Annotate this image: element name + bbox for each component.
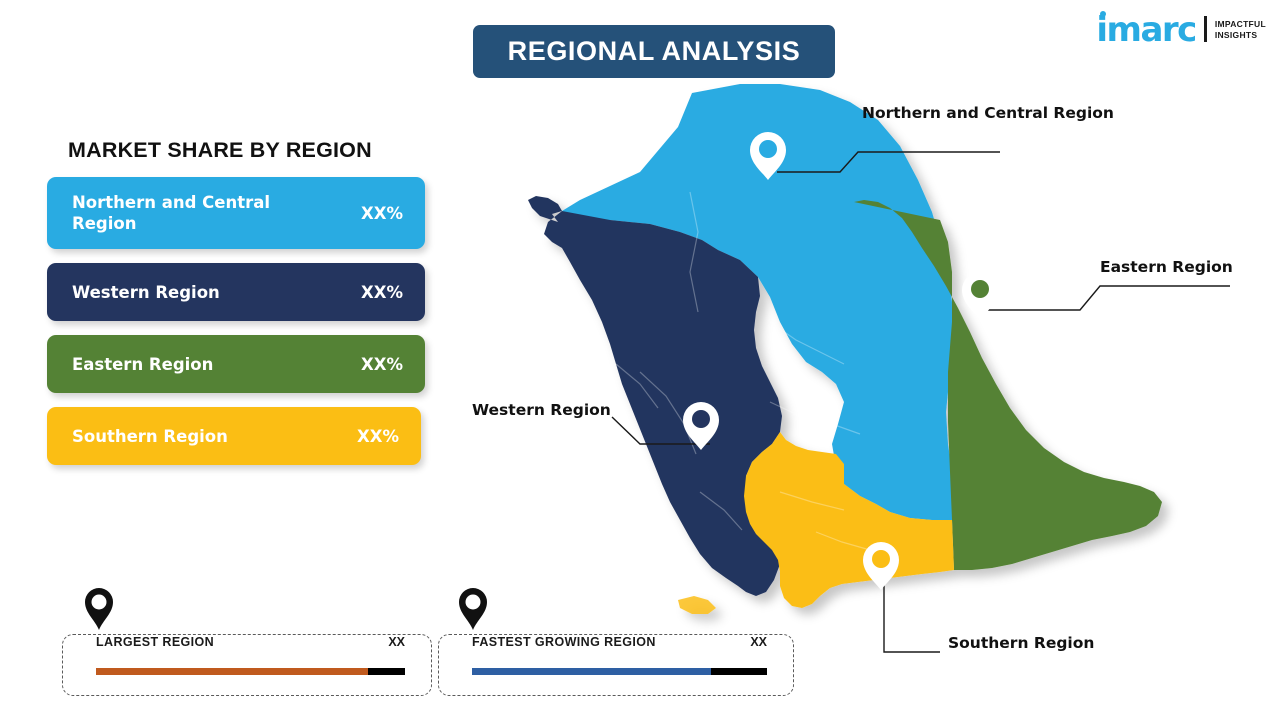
callout-label-western: Western Region xyxy=(472,401,611,419)
fastest-growing-region-box: FASTEST GROWING REGION XX xyxy=(438,634,794,696)
fastest-growing-region-badge[interactable]: FASTEST GROWING REGION XX xyxy=(438,586,794,696)
legend-item-eastern-region[interactable]: Eastern Region XX% xyxy=(47,335,425,393)
logo-tagline-line1: IMPACTFUL xyxy=(1215,19,1266,30)
map-landmass xyxy=(528,84,1162,614)
legend-item-label: Southern Region xyxy=(72,426,228,447)
callout-label-northern-and-central: Northern and Central Region xyxy=(862,104,1114,122)
legend-item-label: Western Region xyxy=(72,282,220,303)
legend-item-western-region[interactable]: Western Region XX% xyxy=(47,263,425,321)
legend-item-northern-and-central-region[interactable]: Northern and Central Region XX% xyxy=(47,177,425,249)
logo-wordmark: imarc xyxy=(1096,16,1195,44)
largest-region-value: XX xyxy=(388,635,405,649)
largest-region-progress-bar xyxy=(96,668,405,675)
largest-region-row: LARGEST REGION XX xyxy=(63,635,431,668)
logo-wordmark-text: imarc xyxy=(1096,10,1195,50)
legend-item-value: XX% xyxy=(361,355,403,374)
fastest-growing-region-row: FASTEST GROWING REGION XX xyxy=(439,635,793,668)
leader-line-eastern xyxy=(988,286,1230,310)
market-share-legend: Northern and Central Region XX% Western … xyxy=(47,177,429,479)
page-title: REGIONAL ANALYSIS xyxy=(508,36,801,67)
largest-region-progress-fill xyxy=(96,668,368,675)
logo-divider xyxy=(1204,16,1207,42)
location-pin-icon xyxy=(456,586,490,632)
callout-label-eastern: Eastern Region xyxy=(1100,258,1233,276)
largest-region-box: LARGEST REGION XX xyxy=(62,634,432,696)
market-share-heading: MARKET SHARE BY REGION xyxy=(68,138,428,163)
leader-line-southern xyxy=(884,584,940,652)
legend-item-value: XX% xyxy=(361,283,403,302)
map-pin-eastern[interactable] xyxy=(962,272,998,320)
callout-label-southern: Southern Region xyxy=(948,634,1094,652)
fastest-growing-region-value: XX xyxy=(750,635,767,649)
largest-region-badge[interactable]: LARGEST REGION XX xyxy=(62,586,432,696)
map-svg xyxy=(440,72,1280,672)
logo-tagline: IMPACTFUL INSIGHTS xyxy=(1215,19,1266,44)
largest-region-label: LARGEST REGION xyxy=(96,635,214,649)
fastest-growing-region-progress-bar xyxy=(472,668,767,675)
saudi-arabia-region-map: Northern and Central Region Eastern Regi… xyxy=(440,72,1280,672)
location-pin-icon xyxy=(82,586,116,632)
map-pin-southern[interactable] xyxy=(863,542,899,590)
fastest-growing-region-label: FASTEST GROWING REGION xyxy=(472,635,656,649)
legend-item-value: XX% xyxy=(357,427,399,446)
imarc-logo: imarc IMPACTFUL INSIGHTS xyxy=(1096,16,1266,44)
legend-item-southern-region[interactable]: Southern Region XX% xyxy=(47,407,421,465)
page-title-banner: REGIONAL ANALYSIS xyxy=(473,25,835,78)
legend-item-label: Eastern Region xyxy=(72,354,213,375)
legend-item-label: Northern and Central Region xyxy=(72,192,312,234)
fastest-growing-region-progress-fill xyxy=(472,668,711,675)
logo-tagline-line2: INSIGHTS xyxy=(1215,30,1266,41)
legend-item-value: XX% xyxy=(361,204,403,223)
